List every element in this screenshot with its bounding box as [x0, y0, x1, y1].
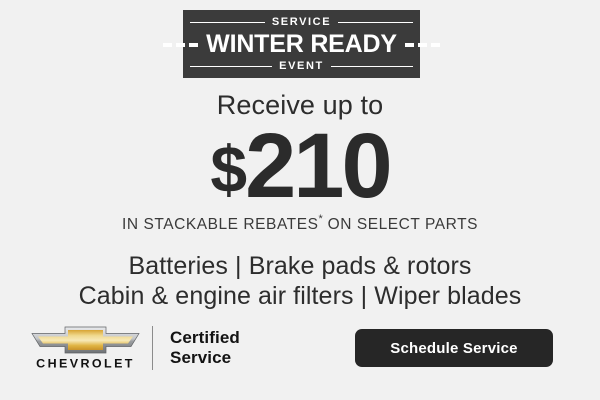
offer-terms-prefix: IN STACKABLE REBATES — [122, 216, 318, 233]
brand-lockup: CHEVROLET — [28, 325, 146, 371]
product-line-1: Batteries | Brake pads & rotors — [0, 251, 600, 281]
schedule-service-button[interactable]: Schedule Service — [355, 329, 553, 367]
banner-dashes-right — [405, 43, 440, 47]
offer-terms: IN STACKABLE REBATES* ON SELECT PARTS — [0, 214, 600, 233]
chevrolet-bowtie-icon — [28, 325, 143, 355]
certified-line-1: Certified — [170, 328, 240, 348]
advertisement-root: SERVICE WINTER READY EVENT Receive up to — [0, 0, 600, 400]
chevrolet-wordmark: CHEVROLET — [28, 359, 143, 371]
banner-top-row: SERVICE — [183, 15, 420, 30]
banner-rule-left-bottom — [190, 66, 272, 67]
event-banner: SERVICE WINTER READY EVENT — [183, 10, 420, 78]
banner-rule-right-top — [338, 22, 413, 23]
banner-bottom-row: EVENT — [183, 60, 420, 75]
certified-line-2: Service — [170, 348, 240, 368]
banner-title-row: WINTER READY — [183, 30, 420, 60]
dash-icon — [176, 43, 185, 47]
product-list: Batteries | Brake pads & rotors Cabin & … — [0, 251, 600, 311]
banner-title: WINTER READY — [198, 32, 405, 57]
banner-service-label: SERVICE — [265, 17, 338, 28]
offer-amount: $210 — [0, 120, 600, 212]
banner-dashes-left — [163, 43, 198, 47]
dash-icon — [163, 43, 172, 47]
banner-rule-left-top — [190, 22, 265, 23]
banner-rule-right-bottom — [331, 66, 413, 67]
currency-symbol: $ — [210, 132, 245, 206]
banner-event-label: EVENT — [272, 61, 331, 72]
dash-icon — [418, 43, 427, 47]
dash-icon — [431, 43, 440, 47]
dash-icon — [405, 43, 414, 47]
footer: CHEVROLET Certified Service Schedule Ser… — [28, 320, 572, 380]
amount-value: 210 — [245, 115, 390, 217]
footer-divider — [152, 326, 153, 370]
certified-service-label: Certified Service — [170, 328, 240, 368]
offer-terms-suffix: ON SELECT PARTS — [323, 216, 478, 233]
dash-icon — [189, 43, 198, 47]
product-line-2: Cabin & engine air filters | Wiper blade… — [0, 281, 600, 311]
